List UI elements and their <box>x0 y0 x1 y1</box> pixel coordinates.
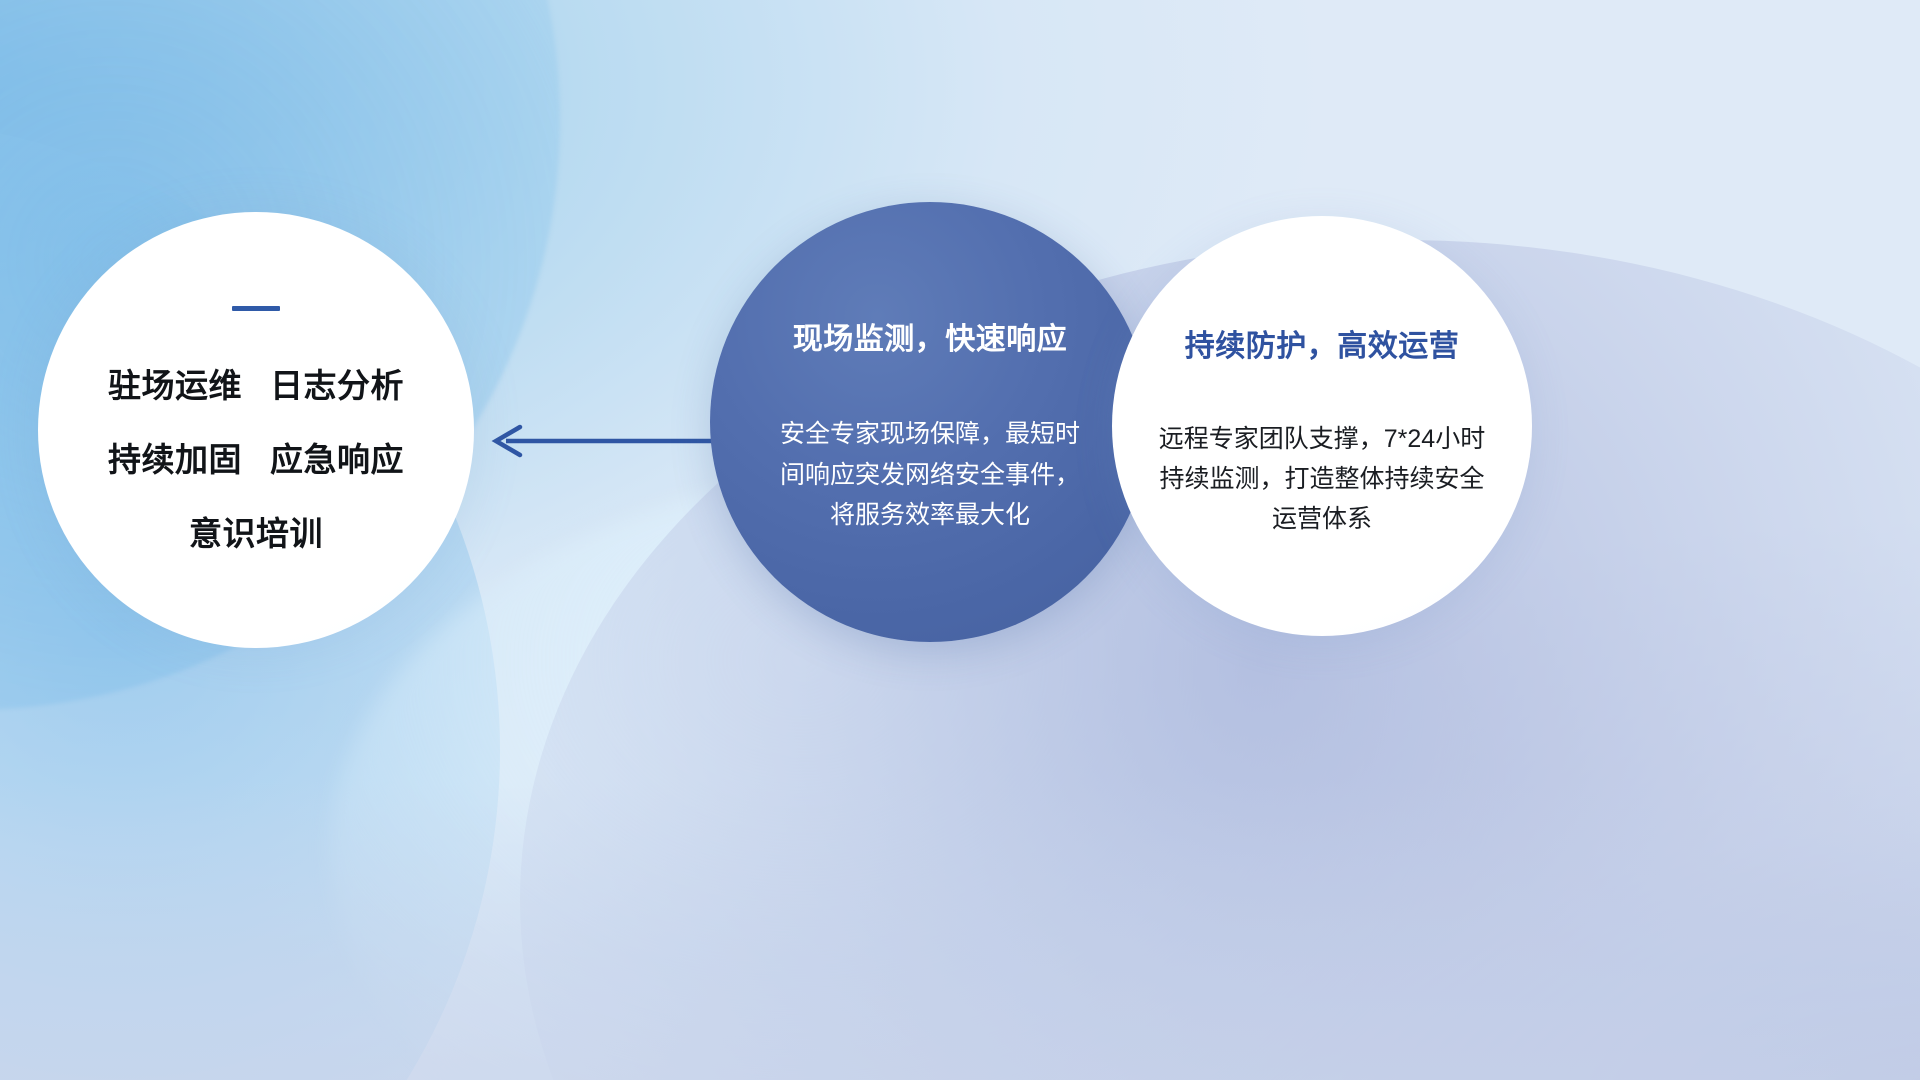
middle-circle-title: 现场监测，快速响应 <box>793 314 1068 358</box>
keyword-item: 应急响应 <box>270 433 404 481</box>
keyword-row: 驻场运维 日志分析 <box>72 359 440 407</box>
keyword-row: 意识培训 <box>72 507 440 555</box>
left-capability-circle[interactable]: 驻场运维 日志分析 持续加固 应急响应 意识培训 <box>38 212 474 648</box>
keyword-item: 日志分析 <box>270 359 404 407</box>
right-operations-circle[interactable]: 持续防护，高效运营 远程专家团队支撑，7*24小时持续监测，打造整体持续安全运营… <box>1112 216 1532 636</box>
middle-onsite-circle[interactable]: 现场监测，快速响应 安全专家现场保障，最短时间响应突发网络安全事件，将服务效率最… <box>710 202 1150 642</box>
keyword-row: 持续加固 应急响应 <box>72 433 440 481</box>
slide-canvas: 驻场运维 日志分析 持续加固 应急响应 意识培训 现场监测，快速响应 安全专家现… <box>0 0 1920 1080</box>
left-circle-divider <box>232 306 280 311</box>
keyword-item: 意识培训 <box>189 507 323 555</box>
background-soft-bottom-band <box>0 780 1920 1080</box>
keyword-item: 持续加固 <box>108 433 242 481</box>
middle-circle-body: 安全专家现场保障，最短时间响应突发网络安全事件，将服务效率最大化 <box>780 414 1080 536</box>
keyword-item: 驻场运维 <box>108 359 242 407</box>
right-circle-title: 持续防护，高效运营 <box>1185 321 1460 365</box>
right-circle-body: 远程专家团队支撑，7*24小时持续监测，打造整体持续安全运营体系 <box>1152 419 1492 539</box>
connector-arrow-icon <box>480 418 715 464</box>
capability-keyword-list: 驻场运维 日志分析 持续加固 应急响应 意识培训 <box>72 359 440 555</box>
